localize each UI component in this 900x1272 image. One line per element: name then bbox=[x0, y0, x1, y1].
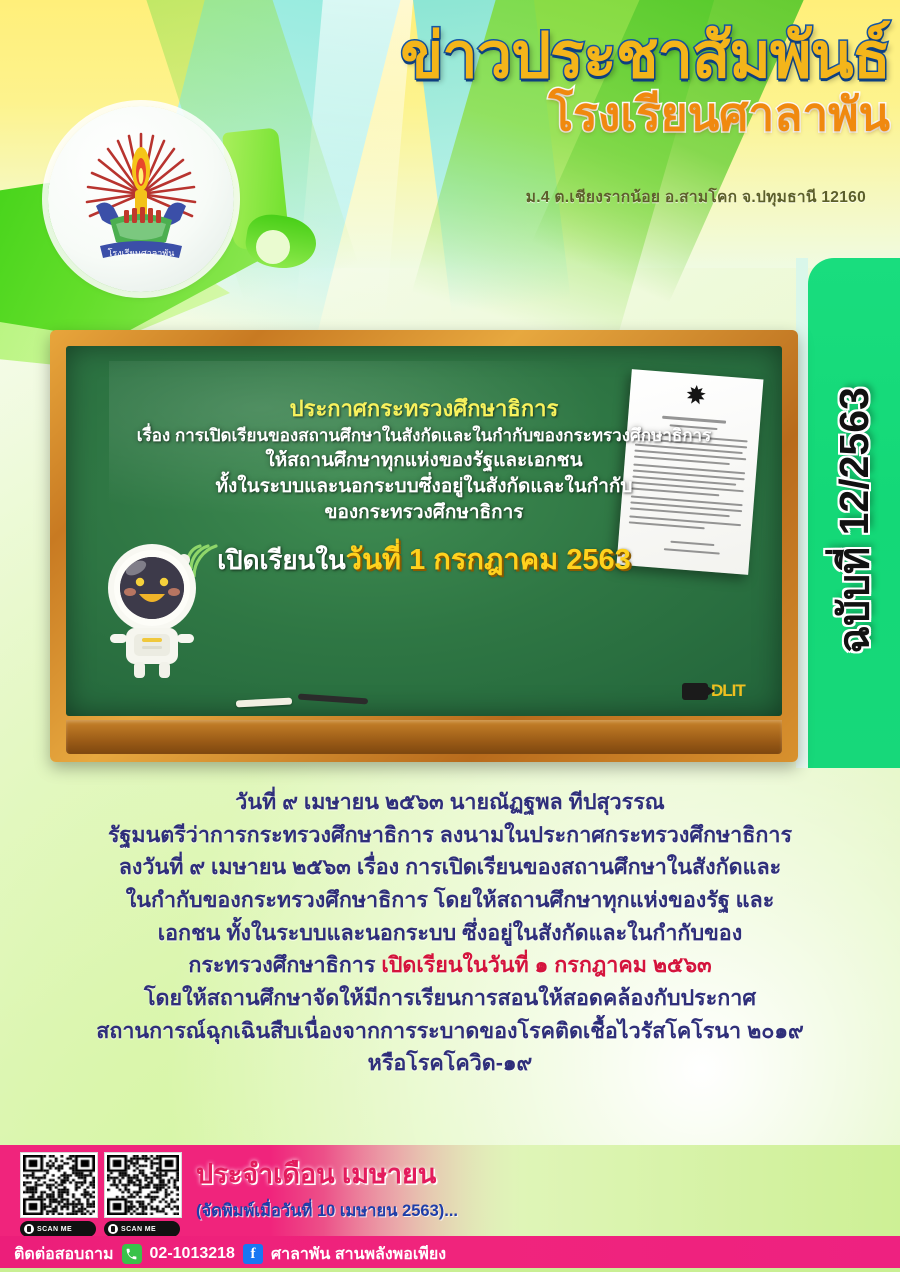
contact-bar: ติดต่อสอบถาม 02-1013218 f ศาลาพัน สานพลั… bbox=[0, 1236, 900, 1272]
school-logo-emblem: โรงเรียนศาลาพัน bbox=[66, 124, 216, 274]
board-open-date: วันที่ 1 กรกฎาคม 2563 bbox=[346, 544, 631, 576]
qr-code-2-image[interactable] bbox=[104, 1152, 182, 1218]
scan-icon bbox=[24, 1224, 34, 1234]
body-open-date: เปิดเรียนในวันที่ ๑ กรกฎาคม ๒๕๖๓ bbox=[381, 953, 711, 977]
chalk-piece bbox=[236, 698, 292, 708]
bottom-strip bbox=[0, 1268, 900, 1272]
robot-mascot bbox=[92, 530, 228, 682]
school-name: โรงเรียนศาลาพัน bbox=[200, 90, 890, 138]
blackboard-surface: ประกาศกระทรวงศึกษาธิการ เรื่อง การเปิดเร… bbox=[66, 346, 782, 716]
body-line-9: หรือโรคโควิด-๑๙ bbox=[40, 1047, 860, 1080]
announcement-body: วันที่ ๙ เมษายน ๒๕๖๓ นายณัฏฐพล ทีปสุวรรณ… bbox=[40, 786, 860, 1080]
phone-icon bbox=[122, 1244, 142, 1264]
dlit-watermark-text: DLIT bbox=[711, 681, 745, 701]
school-address: ม.4 ต.เชียงรากน้อย อ.สามโคก จ.ปทุมธานี 1… bbox=[306, 184, 866, 209]
body-line-5: เอกชน ทั้งในระบบและนอกระบบ ซึ่งอยู่ในสัง… bbox=[40, 917, 860, 950]
scan-icon bbox=[108, 1224, 118, 1234]
board-line-5: ของกระทรวงศึกษาธิการ bbox=[80, 500, 768, 526]
print-date-note: (จัดพิมพ์เมื่อวันที่ 10 เมษายน 2563)... bbox=[196, 1198, 676, 1224]
issue-number-label: ฉบับที่ 12/2563 bbox=[822, 387, 887, 654]
header-title-block: ข่าวประชาสัมพันธ์ โรงเรียนศาลาพัน bbox=[200, 24, 890, 139]
body-line-2: รัฐมนตรีว่าการกระทรวงศึกษาธิการ ลงนามในป… bbox=[40, 819, 860, 852]
dlit-watermark-logo: DLIT bbox=[682, 678, 756, 704]
body-line-4: ในกำกับของกระทรวงศึกษาธิการ โดยให้สถานศึ… bbox=[40, 884, 860, 917]
camera-icon bbox=[682, 683, 708, 700]
body-line-1: วันที่ ๙ เมษายน ๒๕๖๓ นายณัฏฐพล ทีปสุวรรณ bbox=[40, 786, 860, 819]
eraser bbox=[298, 694, 368, 705]
qr-code-1[interactable]: SCAN ME bbox=[20, 1152, 98, 1238]
poster-root: โรงเรียนศาลาพัน ข่าวประชาสัมพันธ์ โรงเรี… bbox=[0, 0, 900, 1272]
board-line-2: เรื่อง การเปิดเรียนของสถานศึกษาในสังกัดแ… bbox=[80, 424, 768, 447]
blackboard-tray bbox=[66, 720, 782, 754]
phone-glyph bbox=[125, 1248, 138, 1261]
issue-month-block: ประจำเดือน เมษายน (จัดพิมพ์เมื่อวันที่ 1… bbox=[196, 1152, 676, 1224]
board-line-3: ให้สถานศึกษาทุกแห่งของรัฐและเอกชน bbox=[80, 448, 768, 474]
body-line-3: ลงวันที่ ๙ เมษายน ๒๕๖๓ เรื่อง การเปิดเรี… bbox=[40, 851, 860, 884]
body-line-6: กระทรวงศึกษาธิการ เปิดเรียนในวันที่ ๑ กร… bbox=[40, 949, 860, 982]
issue-month-label: ประจำเดือน เมษายน bbox=[196, 1152, 676, 1195]
qr-code-1-scan-label: SCAN ME bbox=[37, 1226, 72, 1233]
qr-code-2-scan-badge: SCAN ME bbox=[104, 1221, 180, 1237]
qr-code-1-scan-badge: SCAN ME bbox=[20, 1221, 96, 1237]
board-line-1: ประกาศกระทรวงศึกษาธิการ bbox=[80, 394, 768, 424]
contact-phone-number[interactable]: 02-1013218 bbox=[150, 1245, 235, 1263]
svg-text:โรงเรียนศาลาพัน: โรงเรียนศาลาพัน bbox=[108, 248, 175, 258]
facebook-icon[interactable]: f bbox=[243, 1244, 263, 1264]
issue-number-vertical: ฉบับที่ 12/2563 bbox=[810, 300, 898, 740]
qr-code-2[interactable]: SCAN ME bbox=[104, 1152, 182, 1238]
board-open-prefix: เปิดเรียนใน bbox=[217, 545, 346, 575]
facebook-page-name[interactable]: ศาลาพัน สานพลังพอเพียง bbox=[271, 1242, 446, 1267]
qr-code-2-scan-label: SCAN ME bbox=[121, 1226, 156, 1233]
qr-code-1-image[interactable] bbox=[20, 1152, 98, 1218]
robot-mascot-icon bbox=[92, 530, 228, 682]
page-title: ข่าวประชาสัมพันธ์ bbox=[200, 24, 890, 88]
body-line-8: สถานการณ์ฉุกเฉินสืบเนื่องจากการระบาดของโ… bbox=[40, 1015, 860, 1048]
blackboard: ประกาศกระทรวงศึกษาธิการ เรื่อง การเปิดเร… bbox=[50, 330, 798, 762]
contact-label: ติดต่อสอบถาม bbox=[14, 1242, 114, 1267]
body-line-7: โดยให้สถานศึกษาจัดให้มีการเรียนการสอนให้… bbox=[40, 982, 860, 1015]
body-line-6-prefix: กระทรวงศึกษาธิการ bbox=[188, 953, 381, 977]
board-line-4: ทั้งในระบบและนอกระบบซึ่งอยู่ในสังกัดและใ… bbox=[80, 474, 768, 500]
